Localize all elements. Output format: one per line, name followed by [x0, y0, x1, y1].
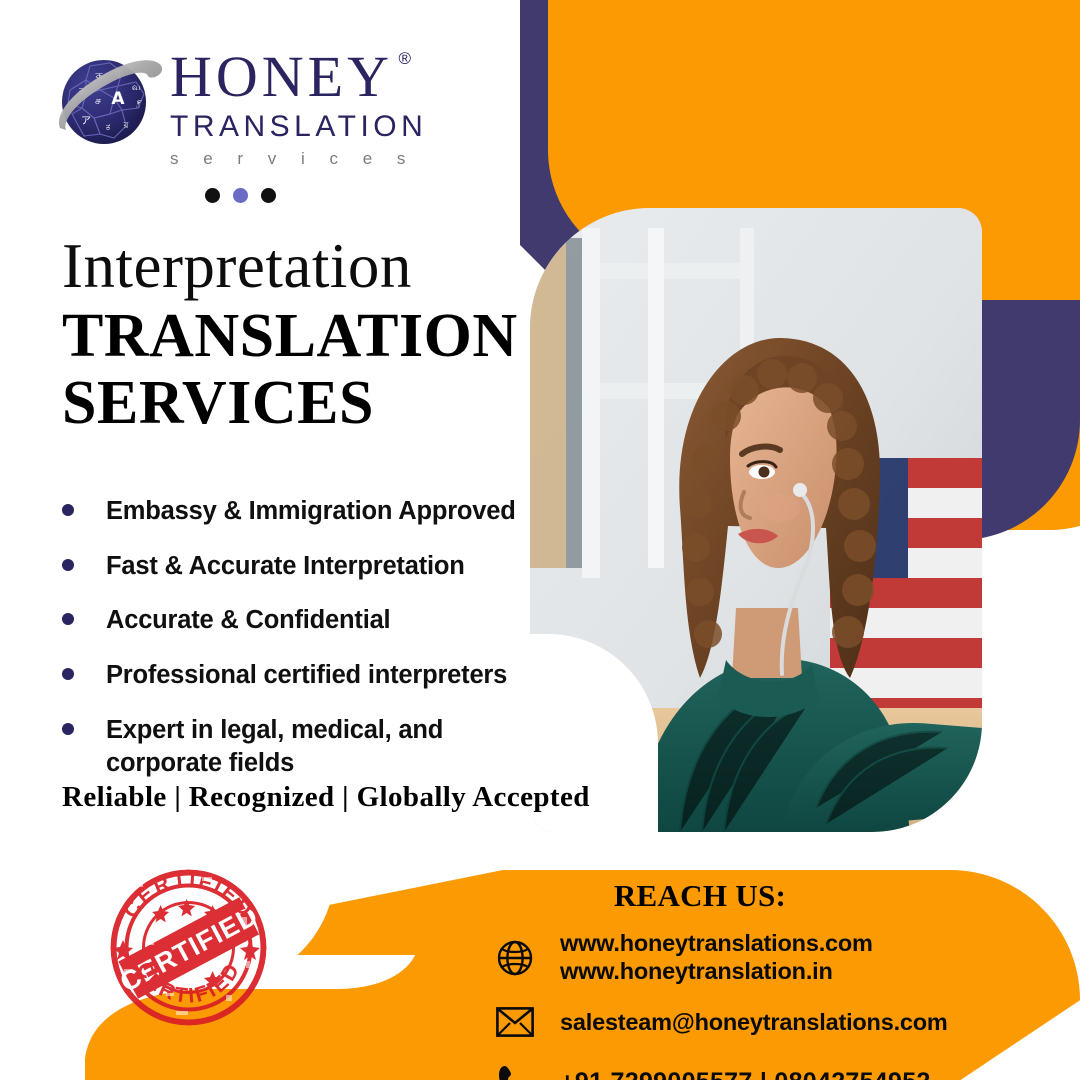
- list-item: Accurate & Confidential: [56, 604, 526, 638]
- list-item: Expert in legal, medical, and corporate …: [56, 714, 526, 781]
- svg-text:ಕ: ಕ: [106, 122, 111, 133]
- globe-icon: [492, 935, 538, 981]
- registered-trademark-icon: ®: [398, 50, 415, 67]
- list-item-label: Accurate & Confidential: [106, 604, 390, 638]
- logo-dots-decoration: [205, 188, 276, 203]
- interpreter-photo: [530, 208, 982, 832]
- envelope-icon: [492, 999, 538, 1045]
- logo-brand-label: HONEY: [170, 44, 393, 109]
- headline-script-line: Interpretation: [62, 233, 532, 299]
- logo-line-services: s e r v i c e s: [170, 150, 455, 167]
- list-item-label: Expert in legal, medical, and corporate …: [106, 714, 466, 781]
- bullet-dot-icon: [62, 668, 74, 680]
- bullet-dot-icon: [62, 723, 74, 735]
- logo-line-translation: TRANSLATION: [170, 112, 455, 142]
- svg-text:র: র: [123, 121, 130, 131]
- bullet-dot-icon: [62, 559, 74, 571]
- list-item: Fast & Accurate Interpretation: [56, 550, 526, 584]
- bullet-dot-icon: [62, 613, 74, 625]
- headline-line-2: SERVICES: [62, 370, 532, 437]
- svg-text:ச: ச: [95, 94, 101, 107]
- tagline-text: Reliable | Recognized | Globally Accepte…: [62, 781, 590, 814]
- certified-stamp-icon: CERTIFIED CERTIFIED CERTIFIED: [106, 865, 271, 1030]
- svg-text:வ: வ: [132, 83, 141, 93]
- contact-row-email[interactable]: salesteam@honeytranslations.com: [430, 999, 1050, 1045]
- page-title: Interpretation TRANSLATION SERVICES: [62, 233, 532, 437]
- list-item: Embassy & Immigration Approved: [56, 495, 526, 529]
- svg-text:A: A: [111, 89, 125, 109]
- contact-row-phone[interactable]: +91 7299005577 | 08042754952: [430, 1059, 1050, 1080]
- bullet-dot-icon: [62, 504, 74, 516]
- phone-text[interactable]: +91 7299005577 | 08042754952: [560, 1068, 931, 1080]
- list-item-label: Embassy & Immigration Approved: [106, 495, 516, 529]
- logo-dot-1: [205, 188, 220, 203]
- contact-section: REACH US: www.honeytranslations.com www.…: [430, 878, 1050, 1080]
- feature-list: Embassy & Immigration Approved Fast & Ac…: [56, 495, 526, 802]
- list-item-label: Professional certified interpreters: [106, 659, 507, 693]
- list-item-label: Fast & Accurate Interpretation: [106, 550, 465, 584]
- headline-main: TRANSLATION SERVICES: [62, 303, 532, 437]
- svg-text:ア: ア: [81, 116, 91, 127]
- website-line-1[interactable]: www.honeytranslations.com: [560, 930, 873, 958]
- brand-logo[interactable]: ক प வ ਵ ச A ్ ア ಕ র HONEY ® TRANSLATION …: [52, 48, 452, 178]
- logo-brand-text: HONEY ®: [170, 48, 393, 106]
- headline-line-1: TRANSLATION: [62, 303, 532, 370]
- contact-row-website[interactable]: www.honeytranslations.com www.honeytrans…: [430, 930, 1050, 985]
- globe-logo-icon: ক प வ ਵ ச A ్ ア ಕ র: [52, 50, 164, 162]
- website-text[interactable]: www.honeytranslations.com www.honeytrans…: [560, 930, 873, 985]
- list-item: Professional certified interpreters: [56, 659, 526, 693]
- poster-canvas: ক प வ ਵ ச A ్ ア ಕ র HONEY ® TRANSLATION …: [0, 0, 1080, 1080]
- website-line-2[interactable]: www.honeytranslation.in: [560, 958, 873, 986]
- contact-section-title: REACH US:: [430, 878, 970, 914]
- logo-dot-3: [261, 188, 276, 203]
- email-text[interactable]: salesteam@honeytranslations.com: [560, 1009, 948, 1037]
- phone-icon: [492, 1059, 538, 1080]
- logo-dot-2: [233, 188, 248, 203]
